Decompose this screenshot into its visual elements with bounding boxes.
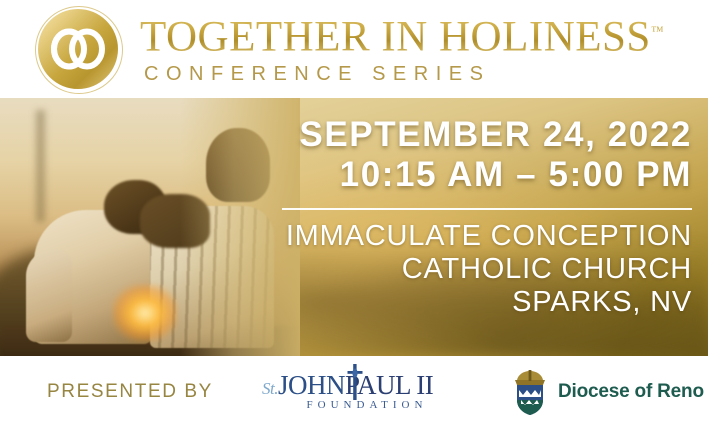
brand-title-text: TOGETHER IN HOLINESS bbox=[140, 13, 651, 60]
event-details: SEPTEMBER 24, 2022 10:15 AM – 5:00 PM IM… bbox=[240, 98, 692, 356]
venue-line-1: IMMACULATE CONCEPTION bbox=[240, 220, 692, 253]
event-flyer: TOGETHER IN HOLINESS™ CONFERENCE SERIES … bbox=[0, 0, 708, 428]
sjp-name-part1: JOHN bbox=[278, 370, 345, 400]
diocese-shield-crest-icon bbox=[508, 370, 552, 416]
event-date: SEPTEMBER 24, 2022 bbox=[240, 115, 692, 155]
interlocking-rings-logo-icon bbox=[38, 9, 118, 89]
sun-flare bbox=[112, 284, 178, 342]
header-band: TOGETHER IN HOLINESS™ CONFERENCE SERIES bbox=[0, 0, 708, 98]
brand-subtitle: CONFERENCE SERIES bbox=[144, 63, 685, 86]
trademark-symbol: ™ bbox=[651, 23, 664, 38]
venue-line-2: CATHOLIC CHURCH bbox=[240, 253, 692, 286]
rings-glyph bbox=[38, 9, 118, 89]
crucifix-icon bbox=[346, 364, 364, 400]
event-time: 10:15 AM – 5:00 PM bbox=[240, 155, 692, 195]
venue-line-3: SPARKS, NV bbox=[240, 286, 692, 319]
diocese-of-reno-logo[interactable]: Diocese of Reno bbox=[508, 370, 673, 416]
sjp-prefix: St. bbox=[262, 379, 278, 398]
brand-title: TOGETHER IN HOLINESS™ bbox=[140, 6, 685, 62]
wordmark: TOGETHER IN HOLINESS™ CONFERENCE SERIES bbox=[140, 6, 685, 86]
hero-banner: SEPTEMBER 24, 2022 10:15 AM – 5:00 PM IM… bbox=[0, 98, 708, 356]
presented-by-label: PRESENTED BY bbox=[47, 381, 213, 403]
background-tower bbox=[36, 110, 45, 222]
woman-sleeve bbox=[26, 250, 72, 342]
diocese-name: Diocese of Reno bbox=[558, 381, 704, 403]
sjp-name-row: St.JOHNPAUL II bbox=[262, 370, 450, 398]
st-john-paul-ii-foundation-logo[interactable]: St.JOHNPAUL II FOUNDATION bbox=[262, 370, 450, 416]
sjp-subtitle: FOUNDATION bbox=[262, 399, 450, 411]
divider-rule bbox=[282, 208, 692, 210]
